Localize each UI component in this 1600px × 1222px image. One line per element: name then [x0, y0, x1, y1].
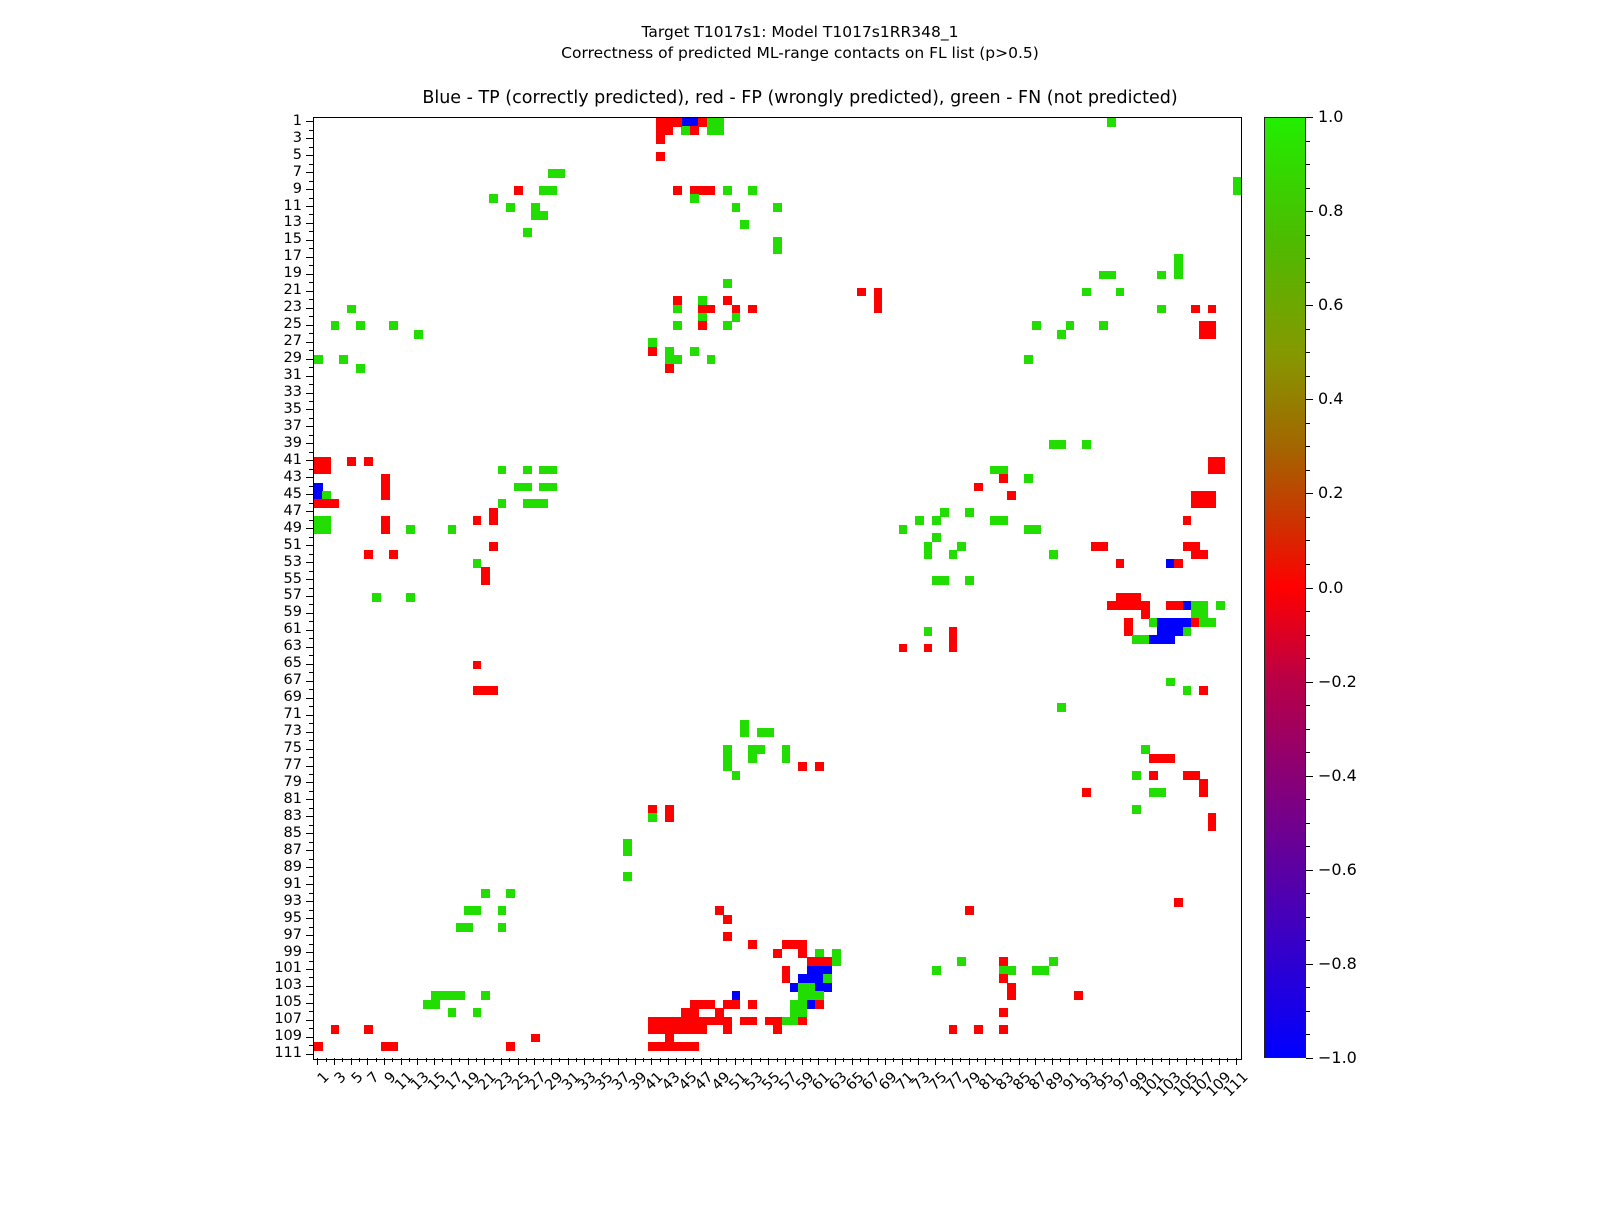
contact-cell [673, 321, 682, 330]
y-tick-major [306, 172, 313, 173]
colorbar-tick [1306, 870, 1313, 871]
y-tick-major [306, 189, 313, 190]
y-tick-minor [309, 740, 313, 741]
contact-cell [690, 126, 699, 135]
contact-cell [1099, 321, 1108, 330]
y-axis-tick-label: 79 [284, 775, 302, 790]
x-tick-major [1119, 1058, 1120, 1065]
colorbar-tick [1306, 399, 1313, 400]
y-axis-tick-label: 13 [284, 215, 302, 230]
x-tick-minor [843, 1058, 844, 1062]
x-tick-major [852, 1058, 853, 1065]
contact-cell [957, 542, 966, 551]
contact-cell [665, 813, 674, 822]
contact-cell [473, 1008, 482, 1017]
y-tick-major [306, 511, 313, 512]
y-tick-minor [309, 723, 313, 724]
contact-cell [673, 355, 682, 364]
x-tick-minor [944, 1058, 945, 1062]
x-tick-major [334, 1058, 335, 1065]
x-tick-minor [860, 1058, 861, 1062]
x-tick-minor [743, 1058, 744, 1062]
contact-cell [356, 364, 365, 373]
contact-cell [473, 686, 498, 695]
y-tick-major [306, 630, 313, 631]
y-tick-major [306, 901, 313, 902]
contact-cell [874, 288, 883, 314]
y-axis-tick-label: 89 [284, 860, 302, 875]
contact-cell [732, 203, 741, 212]
y-tick-minor [309, 350, 313, 351]
y-axis-tick-label: 31 [284, 368, 302, 383]
colorbar-tick-minor [1306, 235, 1310, 236]
colorbar-tick [1306, 1058, 1313, 1059]
y-tick-minor [309, 214, 313, 215]
y-tick-minor [309, 689, 313, 690]
colorbar-tick-minor [1306, 329, 1310, 330]
contact-cell [1149, 771, 1158, 780]
contact-cell [924, 644, 933, 653]
y-axis-tick-label: 83 [284, 809, 302, 824]
contact-cell [723, 279, 732, 288]
y-tick-major [306, 715, 313, 716]
contact-cell [314, 499, 339, 508]
contact-cell [932, 516, 941, 525]
contact-cell [314, 457, 331, 474]
contact-cell [1132, 635, 1149, 644]
contact-cell [1057, 330, 1066, 339]
contact-cell [473, 661, 482, 670]
contact-cell [514, 186, 523, 195]
y-tick-major [306, 274, 313, 275]
colorbar-tick-label: −1.0 [1318, 1050, 1357, 1066]
contact-cell [531, 1034, 540, 1043]
contact-map-cells [314, 118, 1241, 1059]
contact-cell [740, 1017, 757, 1026]
x-tick-major [685, 1058, 686, 1065]
y-tick-minor [309, 231, 313, 232]
y-tick-minor [309, 452, 313, 453]
contact-cell [314, 1042, 323, 1051]
y-axis-tick-label: 111 [274, 1046, 302, 1061]
y-axis-tick-label: 73 [284, 724, 302, 739]
colorbar-tick-minor [1306, 752, 1310, 753]
x-tick-minor [559, 1058, 560, 1062]
x-tick-minor [1211, 1058, 1212, 1062]
y-tick-minor [309, 791, 313, 792]
colorbar-tick-minor [1306, 282, 1310, 283]
y-tick-major [306, 393, 313, 394]
contact-cell [656, 152, 665, 161]
colorbar-tick-minor [1306, 635, 1310, 636]
y-tick-major [306, 867, 313, 868]
contact-cell [690, 194, 699, 203]
contact-cell [347, 457, 356, 466]
y-tick-major [306, 426, 313, 427]
y-tick-major [306, 579, 313, 580]
contact-cell [1183, 686, 1192, 695]
x-tick-minor [1044, 1058, 1045, 1062]
y-axis-tick-label: 19 [284, 266, 302, 281]
x-tick-minor [877, 1058, 878, 1062]
contact-cell [448, 525, 457, 534]
y-tick-minor [309, 706, 313, 707]
contact-cell [798, 762, 807, 771]
x-tick-minor [1077, 1058, 1078, 1062]
x-tick-minor [977, 1058, 978, 1062]
contact-cell [798, 983, 815, 1000]
contact-cell [489, 542, 498, 551]
colorbar-tick-label: 1.0 [1318, 109, 1343, 125]
contact-cell [1024, 355, 1033, 364]
y-tick-minor [309, 147, 313, 148]
x-tick-minor [810, 1058, 811, 1062]
x-tick-major [534, 1058, 535, 1065]
colorbar-tick-label: −0.8 [1318, 956, 1357, 972]
contact-cell [957, 957, 966, 966]
y-axis-tick-label: 87 [284, 843, 302, 858]
contact-cell [757, 728, 774, 737]
contact-cell [748, 186, 757, 195]
y-tick-major [306, 918, 313, 919]
x-tick-major [751, 1058, 752, 1065]
x-tick-minor [960, 1058, 961, 1062]
y-tick-major [306, 799, 313, 800]
x-tick-minor [526, 1058, 527, 1062]
contact-cell [832, 949, 841, 966]
contact-cell [1157, 305, 1166, 314]
contact-cell [999, 1025, 1008, 1034]
y-tick-major [306, 359, 313, 360]
x-tick-minor [793, 1058, 794, 1062]
x-tick-minor [476, 1058, 477, 1062]
x-tick-minor [1177, 1058, 1178, 1062]
contact-cell [1191, 491, 1216, 508]
contact-cell [1208, 457, 1225, 474]
x-tick-minor [426, 1058, 427, 1062]
y-tick-minor [309, 1011, 313, 1012]
contact-cell [498, 466, 507, 475]
x-tick-minor [359, 1058, 360, 1062]
x-tick-minor [1194, 1058, 1195, 1062]
y-axis-tick-label: 1 [293, 114, 302, 129]
y-tick-minor [309, 757, 313, 758]
x-tick-major [969, 1058, 970, 1065]
y-axis-tick-label: 21 [284, 283, 302, 298]
contact-cell [331, 321, 340, 330]
y-axis-tick-label: 105 [274, 995, 302, 1010]
y-axis-tick-label: 107 [274, 1012, 302, 1027]
contact-cell [748, 940, 757, 949]
colorbar-tick-minor [1306, 517, 1310, 518]
contact-cell [1183, 771, 1200, 780]
colorbar-tick-label: 0.0 [1318, 580, 1343, 596]
y-tick-minor [309, 164, 313, 165]
contact-cell [782, 966, 791, 983]
contact-cell [1183, 516, 1192, 525]
contact-cell [623, 872, 632, 881]
contact-cell [1007, 491, 1016, 500]
colorbar-tick-label: −0.2 [1318, 674, 1357, 690]
contact-cell [665, 1034, 674, 1043]
x-tick-major [1086, 1058, 1087, 1065]
y-tick-minor [309, 893, 313, 894]
contact-cell [949, 644, 958, 653]
contact-cell [464, 906, 481, 915]
contact-cell [1024, 525, 1041, 534]
y-tick-major [306, 342, 313, 343]
contact-cell [481, 889, 490, 898]
y-axis-tick-label: 59 [284, 605, 302, 620]
contact-cell [773, 949, 782, 958]
x-tick-major [584, 1058, 585, 1065]
contact-cell [999, 474, 1008, 483]
y-axis-tick-label: 75 [284, 741, 302, 756]
figure-suptitle: Target T1017s1: Model T1017s1RR348_1 Cor… [0, 22, 1600, 64]
x-tick-major [1035, 1058, 1036, 1065]
colorbar-tick-minor [1306, 893, 1310, 894]
x-tick-minor [593, 1058, 594, 1062]
contact-cell [1166, 678, 1175, 687]
contact-cell [782, 940, 799, 949]
contact-cell [798, 1017, 807, 1026]
contact-cell [974, 1025, 983, 1034]
x-tick-major [902, 1058, 903, 1065]
contact-cell [473, 516, 482, 525]
y-tick-minor [309, 520, 313, 521]
contact-cell [949, 550, 958, 559]
colorbar-tick-minor [1306, 352, 1310, 353]
contact-cell [1049, 550, 1058, 559]
contact-cell [773, 203, 782, 212]
x-tick-major [317, 1058, 318, 1065]
contact-cell [364, 457, 373, 466]
contact-cell [723, 932, 732, 941]
y-tick-major [306, 732, 313, 733]
x-tick-minor [777, 1058, 778, 1062]
y-tick-minor [309, 655, 313, 656]
contact-cell [514, 483, 531, 492]
contact-cell [498, 499, 507, 508]
contact-cell [857, 288, 866, 297]
y-axis-tick-label: 95 [284, 911, 302, 926]
contact-cell [372, 593, 381, 602]
contact-cell [1024, 474, 1033, 483]
x-tick-major [868, 1058, 869, 1065]
colorbar-tick-minor [1306, 1011, 1310, 1012]
x-tick-major [1136, 1058, 1137, 1065]
x-tick-major [835, 1058, 836, 1065]
x-tick-major [468, 1058, 469, 1065]
contact-cell [899, 644, 908, 653]
y-axis-tick-label: 55 [284, 572, 302, 587]
contact-cell [1107, 118, 1116, 127]
contact-cell [1082, 288, 1091, 297]
y-tick-minor [309, 621, 313, 622]
x-tick-minor [1161, 1058, 1162, 1062]
contact-cell [924, 627, 933, 636]
y-tick-minor [309, 944, 313, 945]
y-tick-major [306, 681, 313, 682]
y-tick-minor [309, 248, 313, 249]
x-tick-major [451, 1058, 452, 1065]
y-axis-tick-label: 101 [274, 961, 302, 976]
contact-cell [999, 1008, 1008, 1017]
x-tick-major [551, 1058, 552, 1065]
x-tick-major [1152, 1058, 1153, 1065]
y-tick-major [306, 698, 313, 699]
y-tick-major [306, 121, 313, 122]
y-tick-major [306, 1037, 313, 1038]
contact-cell [364, 550, 373, 559]
y-tick-major [306, 494, 313, 495]
x-tick-major [1236, 1058, 1237, 1065]
contact-cell [723, 1025, 732, 1034]
y-tick-minor [309, 537, 313, 538]
colorbar-tick-minor [1306, 540, 1310, 541]
contact-map-plot [313, 117, 1242, 1060]
y-tick-major [306, 850, 313, 851]
contact-cell [1132, 771, 1141, 780]
colorbar-tick-minor [1306, 564, 1310, 565]
y-tick-minor [309, 876, 313, 877]
colorbar-tick-label: 0.4 [1318, 391, 1343, 407]
contact-cell [673, 296, 682, 305]
y-tick-minor [309, 977, 313, 978]
y-tick-major [306, 443, 313, 444]
contact-cell [523, 466, 532, 475]
colorbar-tick-minor [1306, 823, 1310, 824]
x-tick-major [568, 1058, 569, 1065]
contact-cell [356, 321, 365, 330]
contact-cell [707, 118, 724, 135]
contact-cell [748, 305, 757, 314]
x-tick-minor [827, 1058, 828, 1062]
contact-cell [740, 220, 749, 229]
x-tick-major [1102, 1058, 1103, 1065]
y-tick-minor [309, 910, 313, 911]
y-tick-minor [309, 1028, 313, 1029]
colorbar-tick [1306, 776, 1313, 777]
y-tick-minor [309, 367, 313, 368]
y-tick-minor [309, 418, 313, 419]
x-tick-major [635, 1058, 636, 1065]
contact-cell [498, 923, 507, 932]
colorbar-tick-label: 0.8 [1318, 203, 1343, 219]
contact-cell [815, 762, 824, 771]
x-tick-major [918, 1058, 919, 1065]
y-tick-major [306, 240, 313, 241]
contact-cell [539, 483, 556, 492]
contact-cell [314, 355, 323, 364]
y-tick-minor [309, 588, 313, 589]
colorbar-tick-minor [1306, 846, 1310, 847]
y-axis-tick-label: 9 [293, 182, 302, 197]
y-tick-minor [309, 130, 313, 131]
y-axis-tick-label: 41 [284, 453, 302, 468]
contact-cell [815, 1000, 824, 1009]
y-tick-major [306, 782, 313, 783]
y-tick-major [306, 833, 313, 834]
y-tick-minor [309, 198, 313, 199]
contact-cell [940, 508, 949, 517]
contact-cell [1007, 983, 1016, 1000]
y-tick-minor [309, 825, 313, 826]
y-axis-tick-label: 3 [293, 131, 302, 146]
contact-cell [740, 720, 749, 737]
y-axis-tick-label: 51 [284, 538, 302, 553]
colorbar-tick-minor [1306, 164, 1310, 165]
contact-cell [339, 355, 348, 364]
y-axis-tick-label: 43 [284, 470, 302, 485]
x-tick-minor [409, 1058, 410, 1062]
y-tick-major [306, 664, 313, 665]
y-axis-tick-label: 97 [284, 928, 302, 943]
colorbar-tick-minor [1306, 141, 1310, 142]
x-tick-major [1219, 1058, 1220, 1065]
y-tick-major [306, 647, 313, 648]
contact-cell [331, 1025, 340, 1034]
contact-cell [707, 355, 716, 364]
x-tick-minor [643, 1058, 644, 1062]
y-tick-minor [309, 333, 313, 334]
colorbar-tick-minor [1306, 658, 1310, 659]
contact-cell [698, 321, 707, 330]
contact-cell [748, 1000, 757, 1009]
contact-cell [1191, 601, 1208, 618]
y-axis-tick-label: 109 [274, 1029, 302, 1044]
contact-cell [965, 508, 974, 517]
x-tick-major [1169, 1058, 1170, 1065]
contact-cell [423, 1000, 440, 1009]
contact-cell [723, 186, 732, 195]
colorbar-tick-minor [1306, 446, 1310, 447]
x-tick-major [718, 1058, 719, 1065]
contact-cell [623, 839, 632, 856]
colorbar-tick [1306, 588, 1313, 589]
y-axis-tick-label: 69 [284, 690, 302, 705]
y-axis-tick-label: 71 [284, 707, 302, 722]
x-tick-major [618, 1058, 619, 1065]
contact-cell [448, 1008, 457, 1017]
contact-cell [1174, 559, 1183, 568]
contact-cell [990, 516, 1007, 525]
contact-cell [539, 211, 548, 220]
y-axis-tick-label: 53 [284, 555, 302, 570]
y-tick-minor [309, 265, 313, 266]
contact-cell [965, 576, 974, 585]
y-tick-major [306, 1003, 313, 1004]
contact-cell [732, 313, 741, 322]
contact-cell [364, 1025, 373, 1034]
y-axis-tick-label: 61 [284, 622, 302, 637]
y-axis-tick-label: 63 [284, 639, 302, 654]
colorbar-tick-minor [1306, 987, 1310, 988]
contact-cell [1091, 542, 1108, 551]
y-tick-major [306, 613, 313, 614]
contact-cell [1066, 321, 1075, 330]
colorbar-tick-minor [1306, 470, 1310, 471]
x-tick-minor [927, 1058, 928, 1062]
x-tick-minor [1227, 1058, 1228, 1062]
x-tick-major [952, 1058, 953, 1065]
contact-cell [498, 906, 507, 915]
y-tick-major [306, 291, 313, 292]
contact-cell [1057, 703, 1066, 712]
y-tick-major [306, 545, 313, 546]
contact-cell [965, 906, 974, 915]
colorbar-tick-minor [1306, 917, 1310, 918]
